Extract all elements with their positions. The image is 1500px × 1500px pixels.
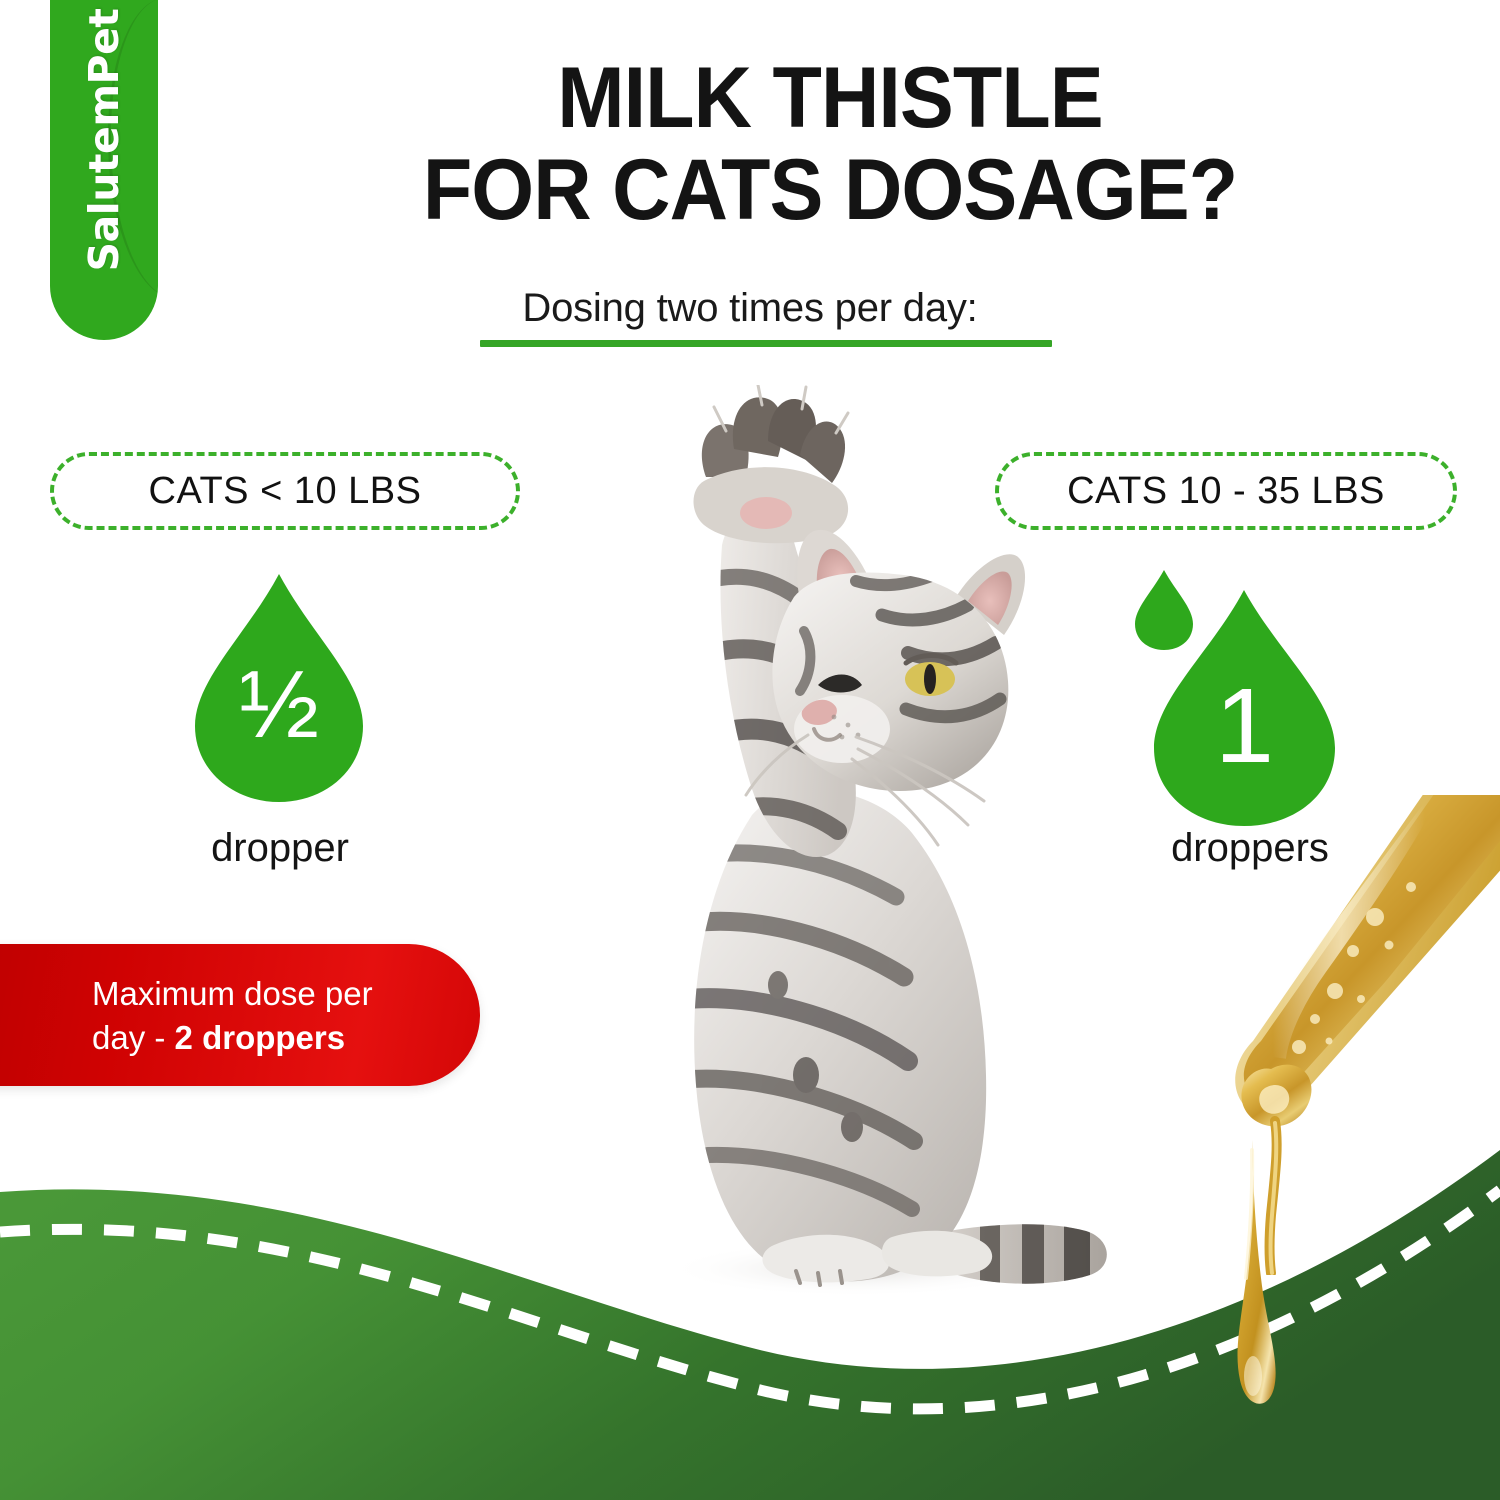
droplet-right-amount: 1 [1215,673,1274,779]
max-dose-line-1: Maximum dose per [92,975,373,1012]
cat-body [688,790,992,1285]
weight-badge-right: CATS 10 - 35 LBS [995,452,1457,530]
droplet-left-amount: ½ [239,657,319,753]
page-title-line-2: FOR CATS DOSAGE? [266,144,1394,236]
infographic-poster: SalutemPet MILK THISTLE FOR CATS DOSAGE?… [0,0,1500,1500]
weight-badge-left-label: CATS < 10 LBS [149,470,422,513]
droplet-right-amount-wrap: 1 [1152,588,1337,828]
subtitle-text: Dosing two times per day: [522,286,977,343]
max-dose-line-2-strong: 2 droppers [175,1019,346,1056]
max-dose-banner: Maximum dose per day - 2 droppers [0,944,480,1086]
subtitle-row: Dosing two times per day: [0,286,1500,343]
cat-paw-raised [694,385,849,543]
page-title: MILK THISTLE FOR CATS DOSAGE? [266,52,1394,236]
weight-badge-left: CATS < 10 LBS [50,452,520,530]
brand-name: SalutemPet [80,8,128,271]
droplet-left-amount-wrap: ½ [193,572,365,804]
subtitle-underline [480,340,1052,347]
max-dose-text: Maximum dose per day - 2 droppers [92,972,422,1059]
weight-badge-right-label: CATS 10 - 35 LBS [1067,470,1385,513]
page-title-line-1: MILK THISTLE [557,50,1103,146]
droplet-left-unit: dropper [130,826,430,871]
max-dose-line-2-prefix: day - [92,1019,175,1056]
falling-oil-drop-icon [1222,1140,1282,1440]
